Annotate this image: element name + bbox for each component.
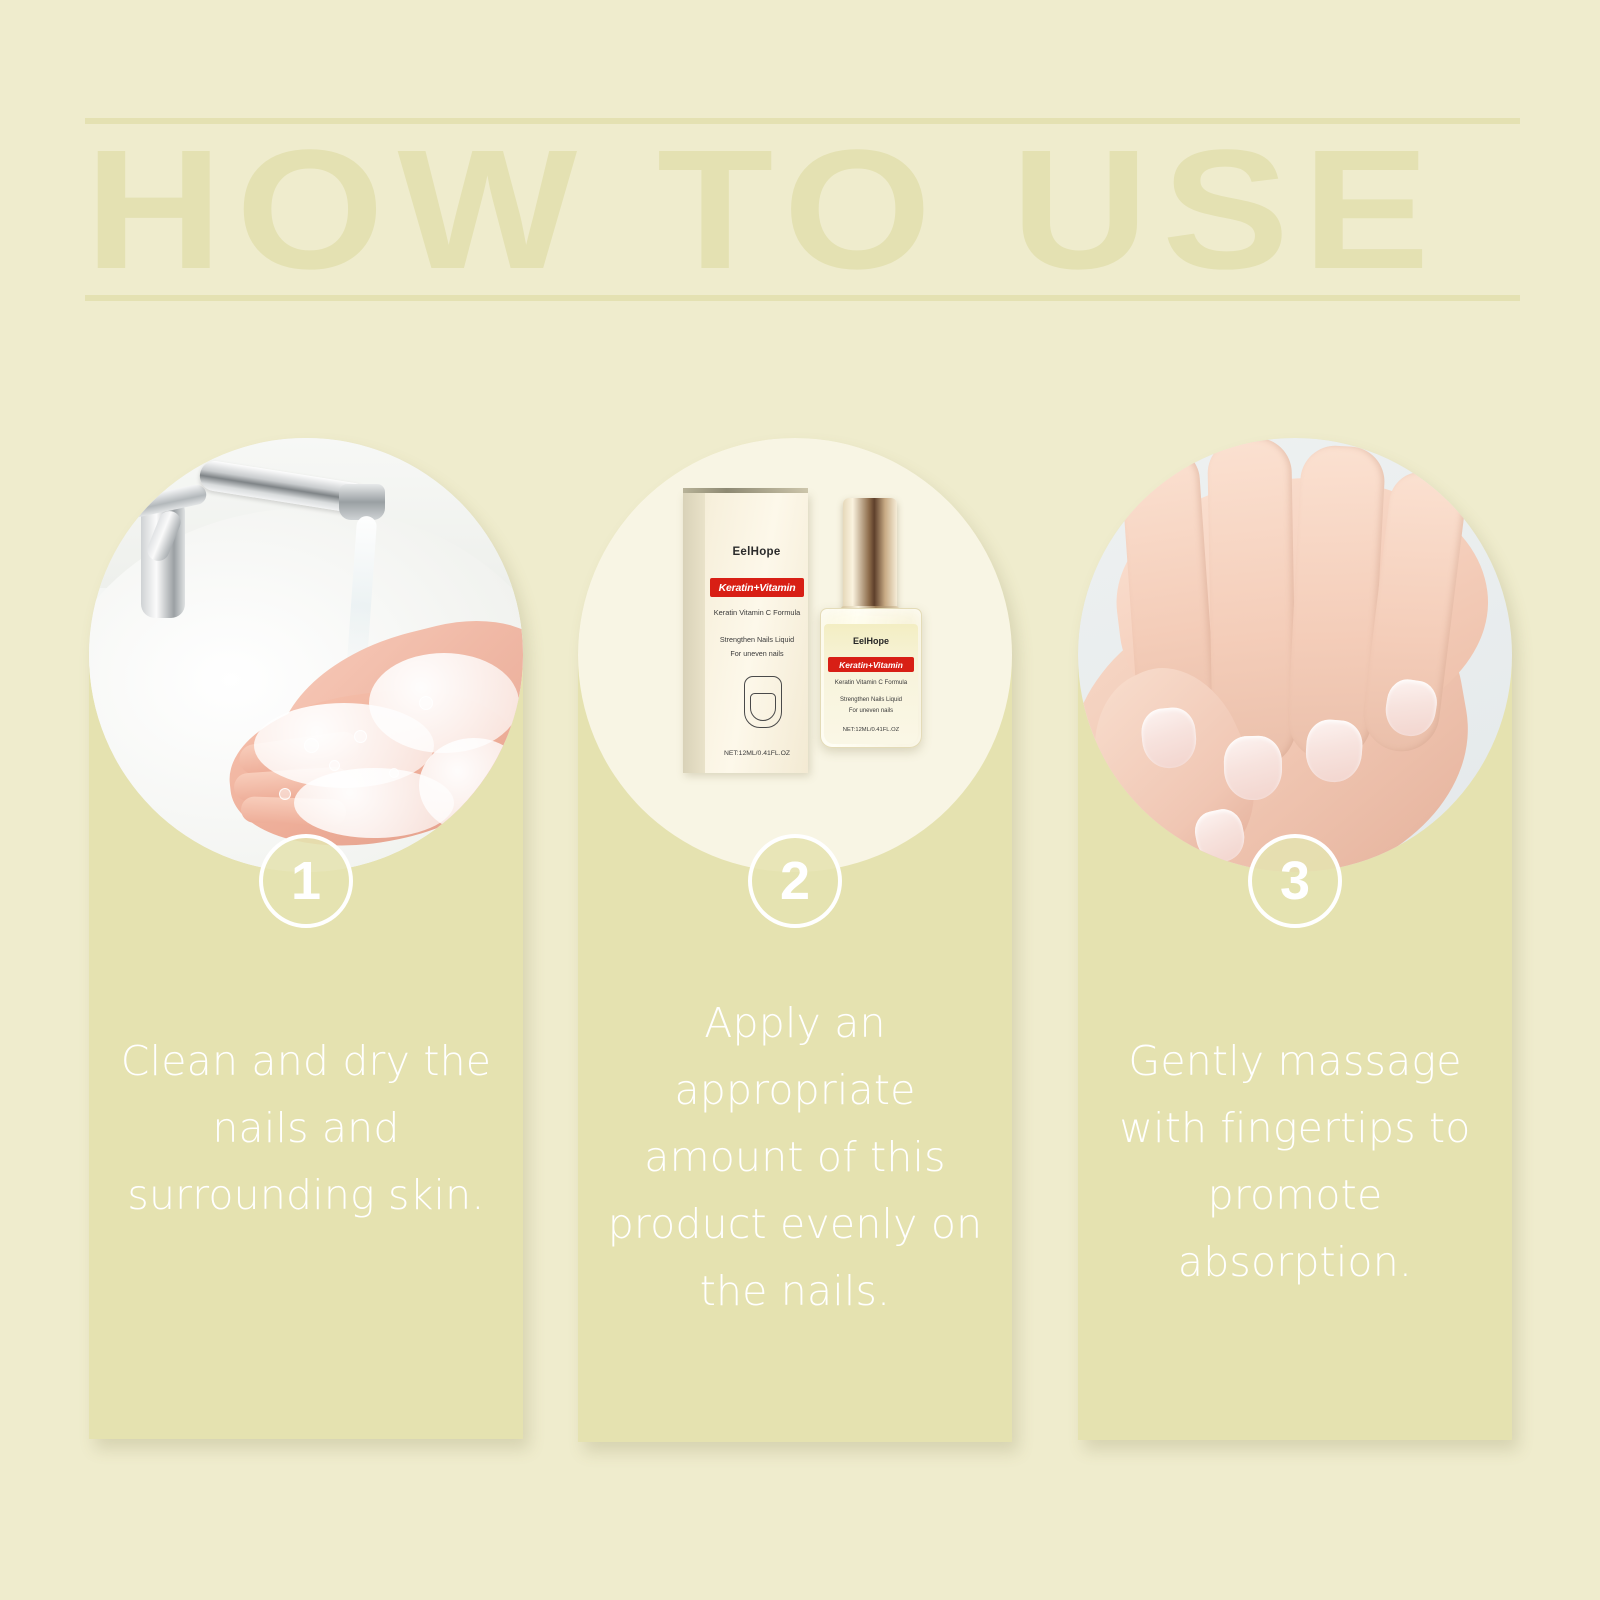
step-number-2: 2 bbox=[780, 854, 810, 908]
box-formula-line: Keratin Vitamin C Formula bbox=[708, 608, 806, 617]
bottle-benefit-line-1: Strengthen Nails Liquid bbox=[826, 697, 916, 703]
step-badge-1: 1 bbox=[259, 834, 353, 928]
bottle-cap bbox=[843, 498, 897, 616]
product-bottle-photo: EelHope Keratin+Vitamin Keratin Vitamin … bbox=[578, 438, 1012, 872]
step-badge-2: 2 bbox=[748, 834, 842, 928]
bottle-benefit-line-2: For uneven nails bbox=[826, 708, 916, 714]
step-badge-3: 3 bbox=[1248, 834, 1342, 928]
step-card-3[interactable]: 3 Gently massage with fingertips to prom… bbox=[1078, 438, 1512, 1440]
box-brand-label: EelHope bbox=[705, 546, 808, 558]
box-benefit-line-2: For uneven nails bbox=[708, 649, 806, 658]
bottle-keratin-badge: Keratin+Vitamin bbox=[828, 657, 914, 672]
manicured-hands-photo bbox=[1078, 438, 1512, 872]
box-benefit-line-1: Strengthen Nails Liquid bbox=[708, 635, 806, 644]
step-number-1: 1 bbox=[291, 854, 321, 908]
bottle-brand-label: EelHope bbox=[824, 636, 918, 646]
washing-hands-photo bbox=[89, 438, 523, 872]
bottle-net-content: NET:12ML/0.41FL.OZ bbox=[826, 727, 916, 733]
steps-container: 1 Clean and dry the nails and surroundin… bbox=[0, 0, 1600, 1600]
step-card-1[interactable]: 1 Clean and dry the nails and surroundin… bbox=[89, 438, 523, 1439]
step-number-3: 3 bbox=[1280, 854, 1310, 908]
bottle-formula-line: Keratin Vitamin C Formula bbox=[826, 679, 916, 686]
step-caption-2: Apply an appropriate amount of this prod… bbox=[594, 990, 996, 1325]
step-card-2[interactable]: EelHope Keratin+Vitamin Keratin Vitamin … bbox=[578, 438, 1012, 1442]
step-caption-3: Gently massage with fingertips to promot… bbox=[1094, 1028, 1496, 1296]
nail-outline-icon bbox=[744, 676, 782, 728]
box-keratin-badge: Keratin+Vitamin bbox=[710, 578, 804, 597]
box-net-content: NET:12ML/0.41FL.OZ bbox=[708, 750, 806, 757]
step-caption-1: Clean and dry the nails and surrounding … bbox=[105, 1028, 507, 1229]
